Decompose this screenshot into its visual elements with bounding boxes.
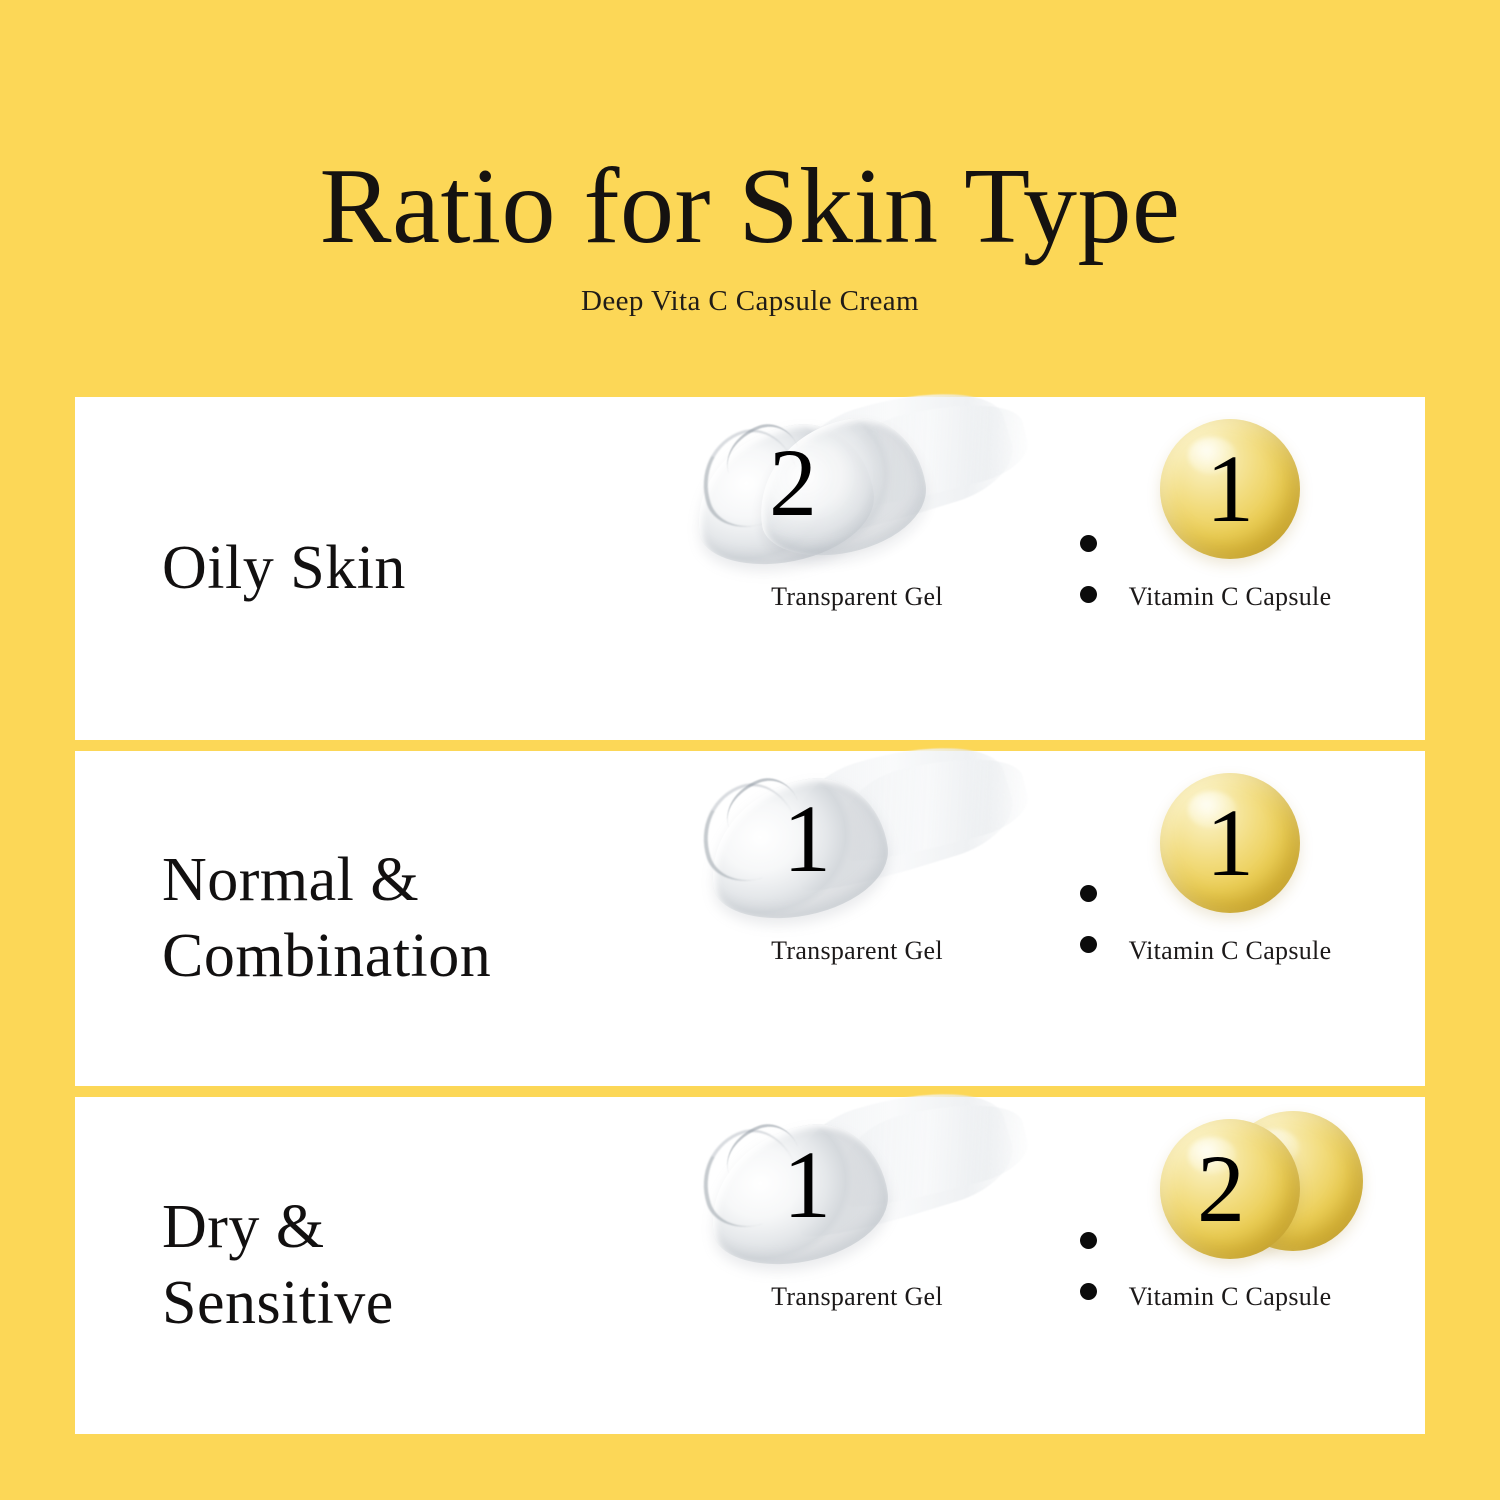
gel-visual: 1 xyxy=(687,751,1027,936)
capsule-unit: 2 Vitamin C Capsule xyxy=(1055,1097,1405,1312)
capsule-visual: 2 xyxy=(1055,1097,1405,1282)
capsule-visual: 1 xyxy=(1055,397,1405,582)
ratio-visual-group: 1 Transparent Gel 2 Vitamin C Capsule xyxy=(635,1097,1425,1434)
gel-label: Transparent Gel xyxy=(687,582,1027,612)
gel-unit: 1 Transparent Gel xyxy=(687,751,1027,966)
vitamin-c-capsule-icon: 2 xyxy=(1055,1097,1405,1282)
skin-type-label: Oily Skin xyxy=(162,531,406,607)
transparent-gel-swatch-icon: 1 xyxy=(687,1097,1027,1282)
capsule-label: Vitamin C Capsule xyxy=(1055,582,1405,612)
page-subtitle: Deep Vita C Capsule Cream xyxy=(0,263,1500,318)
gel-visual: 1 xyxy=(687,1097,1027,1282)
capsule-quantity: 1 xyxy=(1206,441,1254,537)
capsule-quantity: 2 xyxy=(1197,1141,1245,1237)
capsule-unit: 1 Vitamin C Capsule xyxy=(1055,751,1405,966)
ratio-row-oily-skin: Oily Skin 2 Transparent Gel xyxy=(75,397,1425,740)
vitamin-c-capsule-icon: 1 xyxy=(1055,751,1405,936)
ratio-row-normal-combination: Normal & Combination 1 Transparent Gel xyxy=(75,751,1425,1086)
gel-quantity: 1 xyxy=(783,1137,831,1233)
gel-quantity: 2 xyxy=(769,435,817,531)
gel-label: Transparent Gel xyxy=(687,1282,1027,1312)
capsule-unit: 1 Vitamin C Capsule xyxy=(1055,397,1405,612)
capsule-quantity: 1 xyxy=(1206,795,1254,891)
ratio-visual-group: 2 Transparent Gel 1 Vitamin C Capsule xyxy=(635,397,1425,740)
gel-unit: 1 Transparent Gel xyxy=(687,1097,1027,1312)
gel-label: Transparent Gel xyxy=(687,936,1027,966)
transparent-gel-swatch-icon: 1 xyxy=(687,751,1027,936)
capsule-label: Vitamin C Capsule xyxy=(1055,1282,1405,1312)
page-title: Ratio for Skin Type xyxy=(0,0,1500,263)
gel-quantity: 1 xyxy=(783,791,831,887)
ratio-separator-icon xyxy=(1080,535,1097,603)
skin-type-label: Dry & Sensitive xyxy=(162,1190,394,1341)
capsule-visual: 1 xyxy=(1055,751,1405,936)
ratio-separator-icon xyxy=(1080,1232,1097,1300)
ratio-separator-icon xyxy=(1080,885,1097,953)
gel-visual: 2 xyxy=(687,397,1027,582)
gel-unit: 2 Transparent Gel xyxy=(687,397,1027,612)
ratio-card-list: Oily Skin 2 Transparent Gel xyxy=(75,397,1425,1434)
ratio-visual-group: 1 Transparent Gel 1 Vitamin C Capsule xyxy=(635,751,1425,1086)
ratio-row-dry-sensitive: Dry & Sensitive 1 Transparent Gel xyxy=(75,1097,1425,1434)
header: Ratio for Skin Type Deep Vita C Capsule … xyxy=(0,0,1500,318)
transparent-gel-swatch-icon: 2 xyxy=(687,397,1027,582)
vitamin-c-capsule-icon: 1 xyxy=(1055,397,1405,582)
skin-type-label: Normal & Combination xyxy=(162,843,491,994)
capsule-label: Vitamin C Capsule xyxy=(1055,936,1405,966)
